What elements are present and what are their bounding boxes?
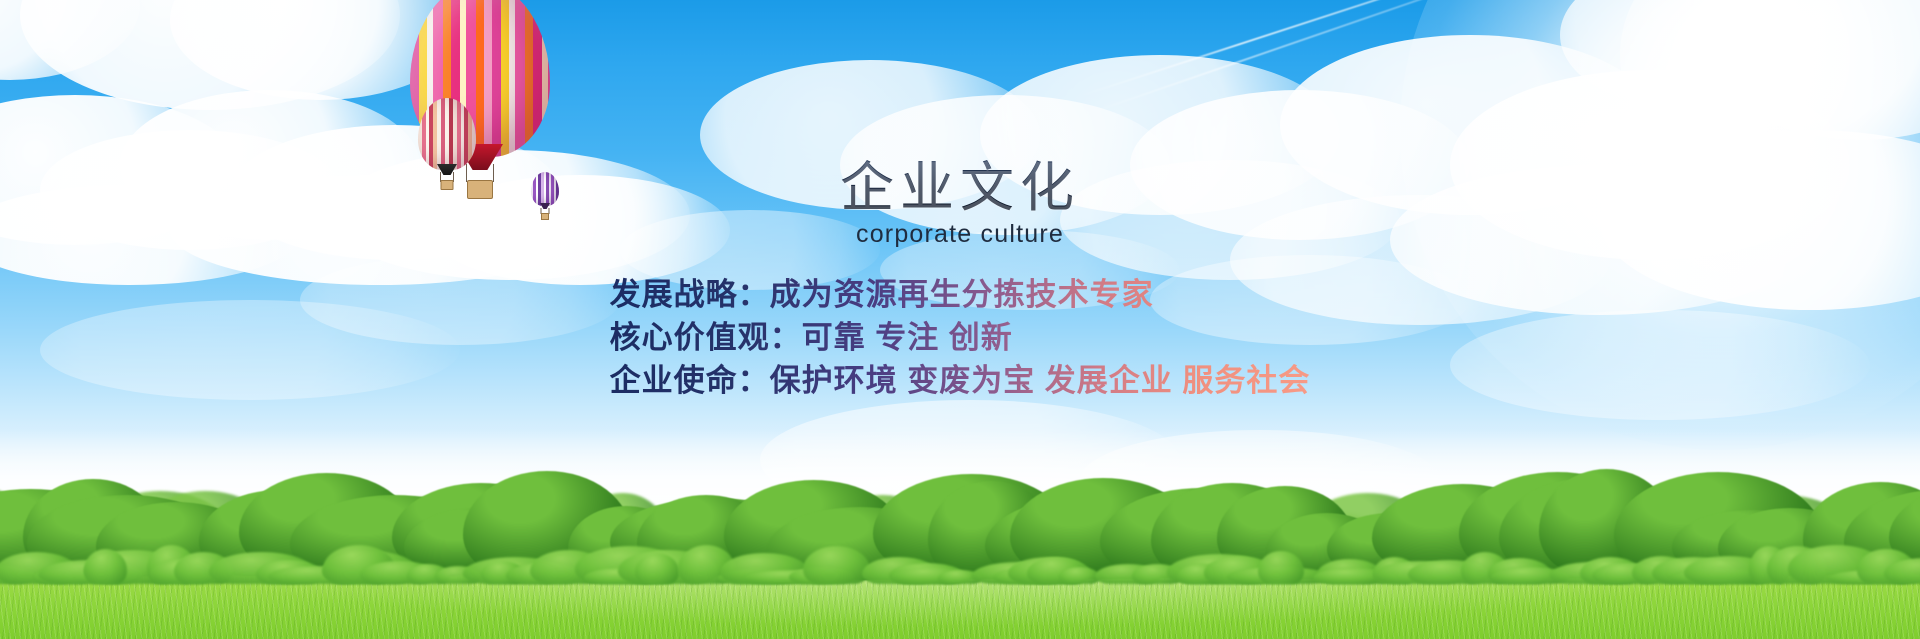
culture-line-value: 保护环境 变废为宝 发展企业 服务社会 [770, 363, 1311, 398]
cloud [980, 55, 1340, 215]
culture-line-values: 核心价值观：可靠 专注 创新 [610, 316, 1311, 359]
cloud [880, 230, 1180, 310]
balloon-lines [541, 208, 550, 214]
balloon-envelope [418, 98, 476, 170]
hot-air-balloon-small-icon [531, 172, 559, 206]
cloud [1450, 70, 1850, 260]
cloud [330, 150, 690, 280]
cloud [1230, 195, 1610, 325]
cloud [40, 300, 460, 400]
contrail-streak [1080, 0, 1480, 97]
balloon-envelope [410, 0, 550, 157]
sun-ray [359, 0, 1800, 11]
cloud [840, 95, 1170, 235]
culture-line-value: 成为资源再生分拣技术专家 [770, 277, 1154, 312]
cloud [1080, 430, 1440, 530]
balloon-lines [466, 164, 494, 182]
culture-statement-list: 发展战略：成为资源再生分拣技术专家 核心价值观：可靠 专注 创新 企业使命：保护… [610, 273, 1311, 402]
corporate-culture-banner: 企业文化 corporate culture 发展战略：成为资源再生分拣技术专家… [0, 0, 1920, 639]
cloud [120, 90, 420, 240]
balloon-basket [467, 180, 493, 199]
cloud [1600, 130, 1920, 310]
cloud [700, 60, 1040, 210]
page-subtitle: corporate culture [0, 219, 1920, 249]
culture-line-label: 核心价值观： [610, 320, 802, 355]
cloud [20, 0, 400, 110]
balloon-envelope [531, 172, 559, 206]
sun-ray [1281, 0, 1780, 25]
cloud [0, 95, 240, 245]
culture-line-mission: 企业使命：保护环境 变废为宝 发展企业 服务社会 [610, 359, 1311, 402]
balloon-skirt [540, 203, 550, 209]
culture-line-label: 发展战略： [610, 277, 770, 312]
sun-ray [1397, 0, 1730, 33]
sun-ray [533, 0, 1790, 22]
grass-field [0, 556, 1920, 639]
balloon-skirt [437, 164, 457, 175]
page-title: 企业文化 [0, 160, 1920, 217]
contrail-streak [1090, 0, 1450, 114]
culture-line-value: 可靠 专注 创新 [802, 320, 1013, 355]
cloud [1150, 255, 1470, 345]
culture-line-label: 企业使命： [610, 363, 770, 398]
cloud [300, 255, 620, 345]
cloud [1060, 160, 1400, 280]
cloud [1560, 0, 1820, 110]
cloud [620, 210, 880, 290]
banner-text-block: 企业文化 corporate culture 发展战略：成为资源再生分拣技术专家… [0, 160, 1920, 402]
cloud [170, 175, 590, 285]
cloud [0, 0, 140, 80]
cloud [0, 185, 300, 285]
sun-glow-icon [1400, 0, 1920, 450]
cloud [1390, 165, 1810, 315]
cloud [230, 125, 560, 260]
cloud [170, 0, 470, 100]
culture-line-strategy: 发展战略：成为资源再生分拣技术专家 [610, 273, 1311, 316]
balloon-skirt [457, 144, 503, 170]
horizon-haze [0, 430, 1920, 520]
cloud [1280, 35, 1660, 215]
hot-air-balloon-large-icon [410, 0, 550, 157]
cloud [1700, 0, 1920, 140]
balloon-basket [541, 213, 549, 220]
balloon-basket [441, 180, 454, 190]
sun-core-icon [1620, 0, 1850, 170]
cloud [1450, 310, 1870, 420]
cloud [1130, 90, 1470, 240]
hot-air-balloon-medium-icon [418, 98, 476, 170]
balloon-lines [440, 172, 454, 182]
cloud [40, 130, 340, 250]
cloud [430, 175, 730, 285]
cloud [760, 400, 1180, 520]
sun-ray [741, 0, 1770, 38]
